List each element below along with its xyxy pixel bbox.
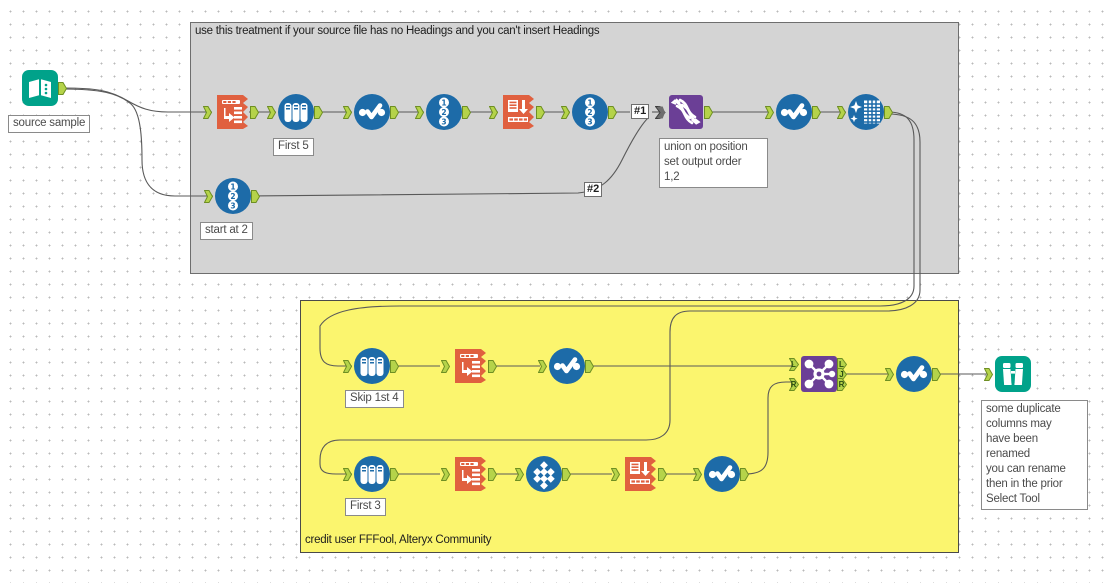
output-anchor[interactable] bbox=[932, 368, 941, 381]
input-anchor[interactable] bbox=[343, 106, 352, 119]
transpose-icon bbox=[524, 454, 564, 494]
text-to-columns-icon bbox=[212, 92, 252, 132]
output-anchor[interactable] bbox=[812, 106, 821, 119]
browse-note-line-3: have been bbox=[986, 432, 1083, 447]
browse-note-line-1: some duplicate bbox=[986, 402, 1083, 417]
input-anchor[interactable] bbox=[561, 106, 570, 119]
tool-sample-first5[interactable] bbox=[276, 92, 316, 132]
svg-text:1: 1 bbox=[587, 99, 592, 108]
input-anchor[interactable] bbox=[267, 106, 276, 119]
tool-select-3[interactable] bbox=[547, 346, 587, 386]
tool-select-2[interactable] bbox=[774, 92, 814, 132]
output-anchor[interactable] bbox=[608, 106, 617, 119]
output-anchor[interactable] bbox=[488, 468, 497, 481]
tool-select-4[interactable] bbox=[702, 454, 742, 494]
svg-text:2: 2 bbox=[587, 108, 592, 117]
select-icon bbox=[352, 92, 392, 132]
svg-text:3: 3 bbox=[587, 118, 592, 127]
label-first-5: First 5 bbox=[273, 138, 314, 156]
tool-browse[interactable] bbox=[993, 354, 1033, 394]
browse-note-line-6: then in the prior bbox=[986, 477, 1083, 492]
svg-text:3: 3 bbox=[441, 118, 446, 127]
tool-select-5[interactable] bbox=[894, 354, 934, 394]
output-anchor[interactable] bbox=[658, 468, 667, 481]
select-icon bbox=[774, 92, 814, 132]
input-anchor[interactable] bbox=[611, 468, 620, 481]
tool-text-to-columns-1[interactable] bbox=[212, 92, 252, 132]
label-start-at-2: start at 2 bbox=[200, 222, 253, 240]
output-anchor[interactable] bbox=[390, 106, 399, 119]
label-first-3: First 3 bbox=[345, 498, 386, 516]
browse-icon bbox=[993, 354, 1033, 394]
label-source-sample: source sample bbox=[8, 115, 90, 133]
input-anchor[interactable] bbox=[343, 360, 352, 373]
output-anchor[interactable] bbox=[884, 106, 893, 119]
browse-note-line-7: Select Tool bbox=[986, 492, 1083, 507]
union-note-line-3: 1,2 bbox=[664, 170, 763, 185]
output-anchor[interactable] bbox=[58, 82, 67, 95]
input-anchor[interactable] bbox=[489, 106, 498, 119]
input-anchor[interactable] bbox=[885, 368, 894, 381]
select-icon bbox=[702, 454, 742, 494]
sample-icon bbox=[352, 454, 392, 494]
select-icon bbox=[547, 346, 587, 386]
record-id-icon: 1 2 3 bbox=[213, 176, 253, 216]
cross-tab-icon bbox=[620, 454, 660, 494]
tool-cross-tab-1[interactable] bbox=[498, 92, 538, 132]
tool-union[interactable] bbox=[666, 92, 706, 132]
output-anchor[interactable] bbox=[704, 106, 713, 119]
cross-tab-icon bbox=[498, 92, 538, 132]
output-anchor[interactable] bbox=[562, 468, 571, 481]
join-icon bbox=[799, 354, 839, 394]
output-anchor[interactable] bbox=[314, 106, 323, 119]
union-icon bbox=[666, 92, 706, 132]
union-note-line-2: set output order bbox=[664, 155, 763, 170]
tool-input-source[interactable] bbox=[20, 68, 60, 108]
input-anchor[interactable] bbox=[837, 106, 846, 119]
output-anchor[interactable] bbox=[250, 106, 259, 119]
input-anchor[interactable] bbox=[203, 106, 212, 119]
yellow-container-caption: credit user FFFool, Alteryx Community bbox=[305, 534, 491, 546]
badge-1: #1 bbox=[631, 104, 649, 119]
output-anchor[interactable] bbox=[585, 360, 594, 373]
tool-text-to-columns-3[interactable] bbox=[450, 454, 490, 494]
union-input-anchor[interactable] bbox=[655, 106, 664, 119]
join-anchor-label-left-in: L bbox=[789, 358, 798, 371]
input-anchor[interactable] bbox=[441, 468, 450, 481]
output-anchor[interactable] bbox=[462, 106, 471, 119]
join-anchor-label-right-out: R bbox=[837, 378, 846, 391]
select-icon bbox=[894, 354, 934, 394]
tool-data-cleansing[interactable] bbox=[846, 92, 886, 132]
yellow-container[interactable] bbox=[300, 300, 959, 553]
badge-2: #2 bbox=[584, 182, 602, 197]
input-anchor[interactable] bbox=[693, 468, 702, 481]
input-anchor[interactable] bbox=[441, 360, 450, 373]
input-anchor[interactable] bbox=[538, 360, 547, 373]
tool-sample-skip-1st-4[interactable] bbox=[352, 346, 392, 386]
input-anchor[interactable] bbox=[515, 468, 524, 481]
input-anchor[interactable] bbox=[984, 368, 993, 381]
svg-text:2: 2 bbox=[441, 108, 446, 117]
svg-text:1: 1 bbox=[230, 183, 235, 192]
output-anchor[interactable] bbox=[390, 468, 399, 481]
data-cleansing-icon bbox=[846, 92, 886, 132]
output-anchor[interactable] bbox=[390, 360, 399, 373]
input-data-icon bbox=[20, 68, 60, 108]
browse-note-line-5: you can rename bbox=[986, 462, 1083, 477]
tool-cross-tab-2[interactable] bbox=[620, 454, 660, 494]
browse-note-line-4: renamed bbox=[986, 447, 1083, 462]
tool-text-to-columns-2[interactable] bbox=[450, 346, 490, 386]
workflow-canvas[interactable]: use this treatment if your source file h… bbox=[0, 0, 1109, 583]
input-anchor[interactable] bbox=[415, 106, 424, 119]
input-anchor[interactable] bbox=[343, 468, 352, 481]
annotation-union-note: union on position set output order 1,2 bbox=[659, 138, 768, 188]
join-anchor-label-right-in: R bbox=[789, 378, 798, 391]
tool-sample-first3[interactable] bbox=[352, 454, 392, 494]
sample-icon bbox=[276, 92, 316, 132]
svg-text:2: 2 bbox=[230, 192, 235, 201]
record-id-icon: 1 2 3 bbox=[570, 92, 610, 132]
tool-record-id-1[interactable]: 1 2 3 bbox=[424, 92, 464, 132]
input-anchor[interactable] bbox=[765, 106, 774, 119]
output-anchor[interactable] bbox=[740, 468, 749, 481]
text-to-columns-icon bbox=[450, 454, 490, 494]
record-id-icon: 1 2 3 bbox=[424, 92, 464, 132]
tool-select-1[interactable] bbox=[352, 92, 392, 132]
browse-note-line-2: columns may bbox=[986, 417, 1083, 432]
tool-record-id-start-at-2[interactable]: 1 2 3 bbox=[213, 176, 253, 216]
output-anchor[interactable] bbox=[488, 360, 497, 373]
union-note-line-1: union on position bbox=[664, 140, 763, 155]
tool-join[interactable]: L R L J bbox=[799, 354, 839, 394]
tool-transpose[interactable] bbox=[524, 454, 564, 494]
svg-text:1: 1 bbox=[441, 99, 446, 108]
output-anchor[interactable] bbox=[536, 106, 545, 119]
svg-text:3: 3 bbox=[230, 202, 235, 211]
input-anchor[interactable] bbox=[204, 190, 213, 203]
gray-container-caption: use this treatment if your source file h… bbox=[195, 25, 599, 37]
sample-icon bbox=[352, 346, 392, 386]
annotation-browse-note: some duplicate columns may have been ren… bbox=[981, 400, 1088, 510]
output-anchor[interactable] bbox=[251, 190, 260, 203]
text-to-columns-icon bbox=[450, 346, 490, 386]
label-skip-1st-4: Skip 1st 4 bbox=[345, 390, 404, 408]
tool-record-id-2[interactable]: 1 2 3 bbox=[570, 92, 610, 132]
